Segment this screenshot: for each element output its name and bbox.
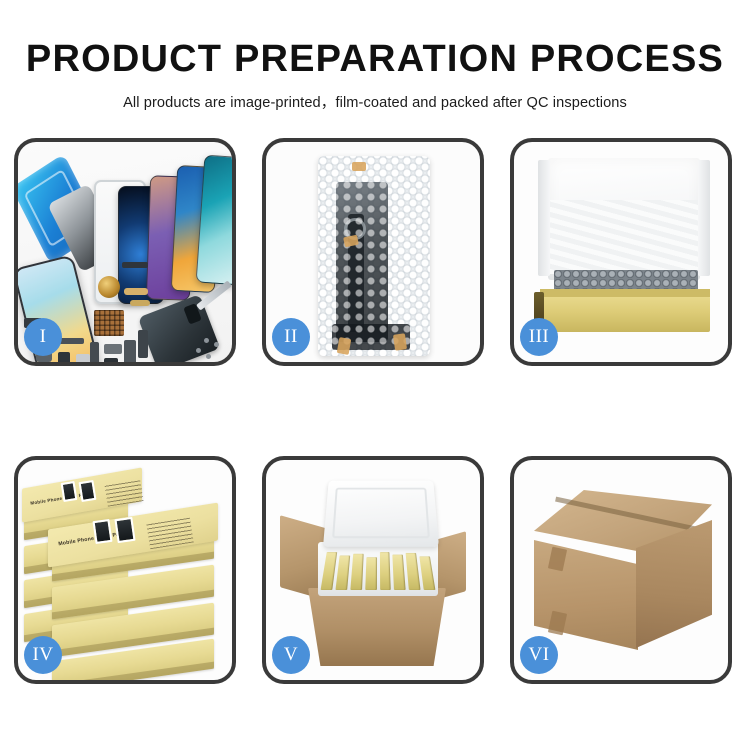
foam-sheet-icon — [550, 200, 698, 274]
box-window-icon — [92, 519, 112, 544]
screw-icon — [214, 342, 219, 347]
step-card-2[interactable]: II — [262, 138, 484, 366]
packed-box-icon — [393, 555, 406, 590]
header: PRODUCT PREPARATION PROCESS All products… — [0, 38, 750, 112]
speaker-part-icon — [98, 276, 120, 298]
screw-icon — [204, 338, 209, 343]
box-window-icon — [61, 481, 78, 502]
packed-box-icon — [365, 557, 377, 590]
packed-box-icon — [379, 552, 391, 590]
packed-box-icon — [350, 554, 363, 590]
spare-part-icon — [90, 342, 99, 362]
packed-box-icon — [335, 555, 350, 590]
step-card-1[interactable]: I — [14, 138, 236, 366]
step-card-4[interactable]: Mobile Phone Spare Parts Mobile Phone Sp… — [14, 456, 236, 684]
step-badge-5: V — [272, 636, 310, 674]
step-badge-6: VI — [520, 636, 558, 674]
step-card-6[interactable]: VI — [510, 456, 732, 684]
page-subtitle: All products are image-printed，film-coat… — [0, 91, 750, 112]
process-step-grid: I II — [14, 138, 736, 684]
spare-part-icon — [138, 330, 148, 358]
flex-cable-icon — [124, 288, 148, 295]
step-card-5[interactable]: V — [262, 456, 484, 684]
spare-part-icon — [124, 340, 136, 362]
chip-grid-icon — [94, 310, 124, 336]
packed-boxes-row — [321, 550, 436, 590]
spare-part-icon — [104, 358, 118, 362]
page-title: PRODUCT PREPARATION PROCESS — [0, 38, 750, 82]
spare-part-icon — [122, 262, 148, 268]
step-badge-4: IV — [24, 636, 62, 674]
box-window-icon — [114, 517, 135, 543]
tape-icon — [393, 333, 407, 351]
screw-icon — [206, 354, 211, 359]
foam-lid-icon — [323, 481, 439, 547]
step-badge-2: II — [272, 318, 310, 356]
spare-part-icon — [104, 344, 122, 354]
infographic-page: PRODUCT PREPARATION PROCESS All products… — [0, 0, 750, 750]
tape-icon — [352, 162, 366, 171]
spare-part-icon — [76, 354, 90, 362]
screw-icon — [196, 348, 201, 353]
packed-box-icon — [406, 553, 421, 590]
step-badge-3: III — [520, 318, 558, 356]
step-card-3[interactable]: III — [510, 138, 732, 366]
kraft-tray-icon — [540, 296, 710, 332]
box-spec-lines — [105, 479, 144, 506]
step-badge-1: I — [24, 318, 62, 356]
carton-body-icon — [308, 588, 446, 666]
spare-part-icon — [58, 352, 70, 362]
box-window-icon — [79, 480, 97, 502]
flex-cable-icon — [130, 300, 150, 306]
bubble-wrap-bag-icon — [318, 156, 430, 356]
